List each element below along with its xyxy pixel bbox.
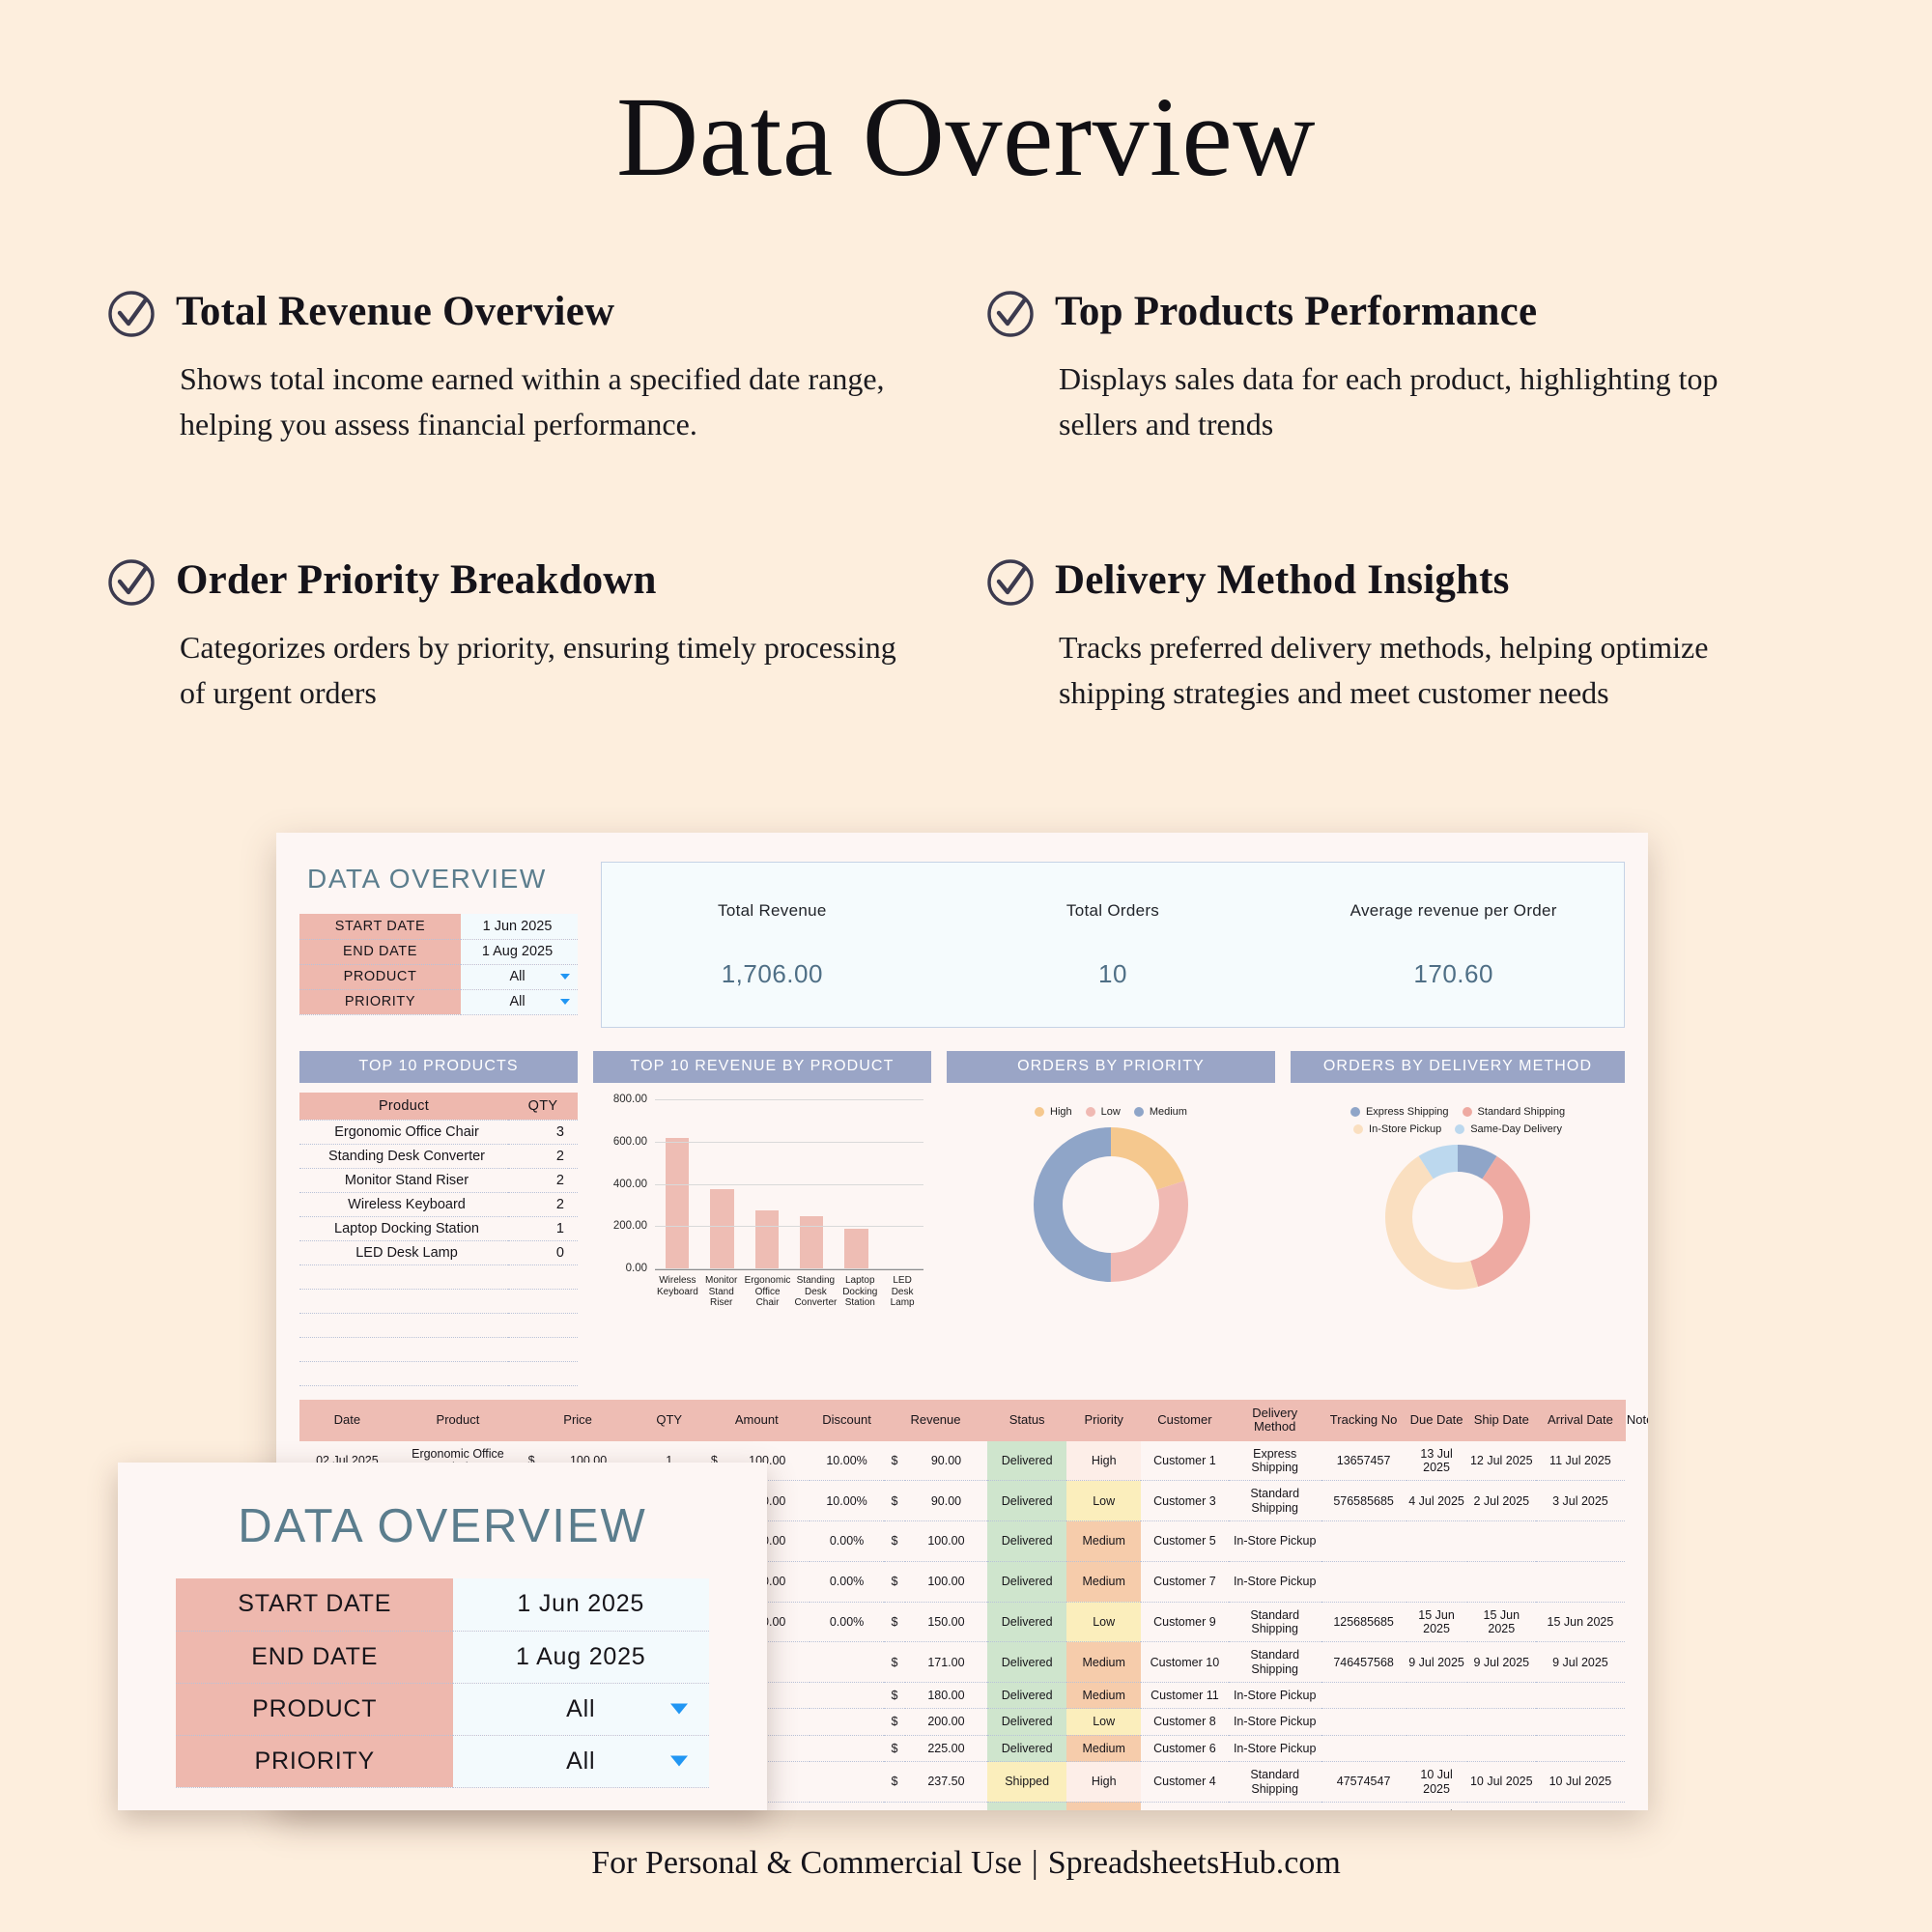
bar-column [789, 1100, 834, 1269]
cell-arrival-date [1536, 1683, 1625, 1709]
filter-row: START DATE1 Jun 2025 [299, 914, 578, 939]
panel-title-top-products: TOP 10 PRODUCTS [299, 1051, 578, 1083]
panel-title-revenue-by-product: TOP 10 REVENUE BY PRODUCT [593, 1051, 931, 1083]
cell-delivery-method: Same-Day Delivery [1229, 1802, 1321, 1810]
table-row-empty [299, 1361, 578, 1385]
x-axis-label: Laptop Docking Station [838, 1275, 881, 1309]
check-circle-icon [106, 289, 156, 339]
filter-label: PRIORITY [299, 989, 461, 1014]
bar-column [879, 1100, 923, 1269]
cell-ship-date [1467, 1735, 1536, 1761]
priority-badge: Medium [1066, 1735, 1141, 1761]
filter-row: PRIORITYAll [176, 1735, 708, 1787]
product-name: Ergonomic Office Chair [299, 1120, 508, 1144]
legend-label: In-Store Pickup [1369, 1123, 1441, 1135]
y-axis-tick: 200.00 [613, 1220, 647, 1232]
cell-revenue: 225.00 [905, 1735, 987, 1761]
product-name: LED Desk Lamp [299, 1240, 508, 1264]
filter-label: PRODUCT [299, 964, 461, 989]
cell-due-date: 12 Jul 2025 [1406, 1802, 1467, 1810]
check-circle-icon [985, 289, 1036, 339]
feature-description: Shows total income earned within a speci… [176, 356, 910, 448]
legend-color-dot [1035, 1107, 1044, 1117]
column-header: Discount [810, 1400, 884, 1441]
cell-revenue-currency: $ [884, 1561, 905, 1602]
cell-customer: Customer 4 [1141, 1762, 1229, 1803]
cell-customer: Customer 6 [1141, 1735, 1229, 1761]
cell-discount [810, 1683, 884, 1709]
cell-ship-date [1467, 1709, 1536, 1735]
status-badge: Delivered [987, 1642, 1066, 1683]
cell-due-date: 9 Jul 2025 [1406, 1642, 1467, 1683]
feature-title: Total Revenue Overview [176, 289, 947, 334]
cell-discount: 10.00% [810, 1481, 884, 1521]
bar-column [655, 1100, 699, 1269]
status-badge: Delivered [987, 1802, 1066, 1810]
footer-site-link[interactable]: SpreadsheetsHub.com [1048, 1845, 1341, 1881]
cell-arrival-date [1536, 1561, 1625, 1602]
filter-row: END DATE1 Aug 2025 [176, 1631, 708, 1683]
x-axis-label: LED Desk Lamp [881, 1275, 923, 1309]
filter-value[interactable]: 1 Jun 2025 [461, 914, 578, 939]
gridline: 400.00 [655, 1184, 923, 1185]
sheet-heading: DATA OVERVIEW [299, 858, 578, 914]
table-row: Standing Desk Converter2 [299, 1144, 578, 1168]
legend-label: Standard Shipping [1478, 1106, 1566, 1118]
revenue-bar-chart: 0.00200.00400.00600.00800.00 Wireless Ke… [593, 1093, 931, 1386]
filter-row: END DATE1 Aug 2025 [299, 939, 578, 964]
product-name: Wireless Keyboard [299, 1192, 508, 1216]
product-qty: 1 [508, 1216, 578, 1240]
cell-revenue: 90.00 [905, 1481, 987, 1521]
priority-badge: Low [1066, 1709, 1141, 1735]
y-axis-tick: 400.00 [613, 1179, 647, 1190]
cell-discount [810, 1709, 884, 1735]
legend-color-dot [1353, 1124, 1363, 1134]
filter-value[interactable]: 1 Jun 2025 [453, 1578, 709, 1631]
product-name: Laptop Docking Station [299, 1216, 508, 1240]
priority-badge: Medium [1066, 1521, 1141, 1562]
y-axis-tick: 600.00 [613, 1136, 647, 1148]
table-row-empty [299, 1264, 578, 1289]
legend-item: Express Shipping [1350, 1106, 1449, 1118]
filter-label: PRODUCT [176, 1683, 453, 1735]
table-row: Ergonomic Office Chair3 [299, 1120, 578, 1144]
cell-tracking-no [1321, 1521, 1406, 1562]
cell-revenue: 90.00 [905, 1441, 987, 1481]
feature-title: Order Priority Breakdown [176, 557, 947, 603]
cell-delivery-method: Standard Shipping [1229, 1762, 1321, 1803]
legend-label: Express Shipping [1366, 1106, 1449, 1118]
feature-title: Top Products Performance [1055, 289, 1826, 334]
cell-ship-date [1467, 1561, 1536, 1602]
x-axis-label: Monitor Stand Riser [700, 1275, 743, 1309]
top-products-table: ProductQTY Ergonomic Office Chair3Standi… [299, 1093, 578, 1386]
feature-item-revenue: Total Revenue Overview Shows total incom… [106, 287, 947, 447]
footer: For Personal & Commercial Use|Spreadshee… [0, 1845, 1932, 1882]
filter-panel: DATA OVERVIEW START DATE1 Jun 2025END DA… [299, 858, 578, 1015]
donut-chart [1034, 1127, 1188, 1282]
cell-tracking-no: 746457568 [1321, 1642, 1406, 1683]
column-header: Arrival Date [1536, 1400, 1625, 1441]
cell-ship-date: 12 Jul 2025 [1467, 1441, 1536, 1481]
legend-color-dot [1455, 1124, 1464, 1134]
cell-revenue: 100.00 [905, 1561, 987, 1602]
filter-dropdown[interactable]: All [461, 964, 578, 989]
donut-chart [1385, 1145, 1530, 1290]
cell-revenue-currency: $ [884, 1441, 905, 1481]
bar [844, 1229, 867, 1269]
column-header: Price [521, 1400, 635, 1441]
cell-discount: 0.00% [810, 1602, 884, 1642]
legend-color-dot [1463, 1107, 1472, 1117]
cell-arrival-date [1536, 1521, 1625, 1562]
product-qty: 0 [508, 1240, 578, 1264]
table-row: Monitor Stand Riser2 [299, 1168, 578, 1192]
cell-ship-date [1467, 1683, 1536, 1709]
cell-revenue-currency: $ [884, 1642, 905, 1683]
cell-due-date: 4 Jul 2025 [1406, 1481, 1467, 1521]
filter-value[interactable]: 1 Aug 2025 [461, 939, 578, 964]
gridline: 800.00 [655, 1099, 923, 1100]
gridline: 0.00 [655, 1268, 923, 1269]
column-header: QTY [635, 1400, 703, 1441]
zoom-inset-card: DATA OVERVIEW START DATE1 Jun 2025END DA… [118, 1463, 767, 1810]
orders-by-delivery-donut: Express ShippingStandard ShippingIn-Stor… [1291, 1093, 1625, 1321]
column-header: Due Date [1406, 1400, 1467, 1441]
cell-ship-date: 10 Jul 2025 [1467, 1762, 1536, 1803]
cell-discount: 0.00% [810, 1561, 884, 1602]
filter-label: START DATE [176, 1578, 453, 1631]
filter-row: PRIORITYAll [299, 989, 578, 1014]
priority-badge: High [1066, 1762, 1141, 1803]
legend-label: Same-Day Delivery [1470, 1123, 1562, 1135]
cell-revenue: 180.00 [905, 1683, 987, 1709]
bar-column [745, 1100, 789, 1269]
priority-badge: Medium [1066, 1642, 1141, 1683]
filter-label: END DATE [176, 1631, 453, 1683]
cell-ship-date: 11 Jul 2025 [1467, 1802, 1536, 1810]
cell-arrival-date: 11 Jul 2025 [1536, 1802, 1625, 1810]
feature-item-delivery-method: Delivery Method Insights Tracks preferre… [985, 555, 1826, 716]
feature-description: Displays sales data for each product, hi… [1055, 356, 1789, 448]
cell-ship-date: 15 Jun 2025 [1467, 1602, 1536, 1642]
status-badge: Delivered [987, 1709, 1066, 1735]
kpi-label: Total Revenue [602, 901, 943, 921]
feature-description: Tracks preferred delivery methods, helpi… [1055, 625, 1789, 717]
cell-due-date [1406, 1709, 1467, 1735]
kpi-total-revenue: Total Revenue 1,706.00 [602, 901, 943, 989]
priority-badge: Low [1066, 1602, 1141, 1642]
cell-tracking-no [1321, 1561, 1406, 1602]
table-row: Wireless Keyboard2 [299, 1192, 578, 1216]
cell-due-date: 15 Jun 2025 [1406, 1602, 1467, 1642]
footer-left-text: For Personal & Commercial Use [591, 1845, 1022, 1881]
cell-arrival-date [1536, 1735, 1625, 1761]
cell-tracking-no [1321, 1709, 1406, 1735]
cell-arrival-date: 9 Jul 2025 [1536, 1642, 1625, 1683]
bar-column [834, 1100, 878, 1269]
cell-arrival-date [1536, 1709, 1625, 1735]
legend-label: High [1050, 1106, 1072, 1118]
cell-arrival-date: 3 Jul 2025 [1536, 1481, 1625, 1521]
filter-table: START DATE1 Jun 2025END DATE1 Aug 2025PR… [299, 914, 578, 1015]
cell-discount [810, 1735, 884, 1761]
status-badge: Delivered [987, 1441, 1066, 1481]
product-qty: 3 [508, 1120, 578, 1144]
column-header: Customer [1141, 1400, 1229, 1441]
cell-revenue: 237.50 [905, 1762, 987, 1803]
cell-customer: Customer 3 [1141, 1481, 1229, 1521]
kpi-total-orders: Total Orders 10 [943, 901, 1284, 989]
legend-item: In-Store Pickup [1353, 1123, 1441, 1135]
cell-tracking-no: 13657457 [1321, 1441, 1406, 1481]
y-axis-tick: 0.00 [626, 1263, 647, 1274]
filter-label: PRIORITY [176, 1735, 453, 1787]
product-name: Monitor Stand Riser [299, 1168, 508, 1192]
column-header: Date [299, 1400, 395, 1441]
chevron-down-icon[interactable] [560, 974, 570, 980]
filter-dropdown[interactable]: All [453, 1683, 709, 1735]
column-header: Status [987, 1400, 1066, 1441]
cell-tracking-no: 5434634 [1321, 1802, 1406, 1810]
column-header: Ship Date [1467, 1400, 1536, 1441]
panel-title-orders-by-delivery-method: ORDERS BY DELIVERY METHOD [1291, 1051, 1625, 1083]
table-row-empty [299, 1313, 578, 1337]
bar [800, 1216, 823, 1269]
legend-color-dot [1350, 1107, 1360, 1117]
product-qty: 2 [508, 1144, 578, 1168]
kpi-average-revenue-per-order: Average revenue per Order 170.60 [1283, 901, 1624, 989]
cell-delivery-method: In-Store Pickup [1229, 1683, 1321, 1709]
cell-revenue-currency: $ [884, 1481, 905, 1521]
y-axis-tick: 800.00 [613, 1094, 647, 1105]
table-row-empty [299, 1337, 578, 1361]
product-qty: 2 [508, 1192, 578, 1216]
feature-title: Delivery Method Insights [1055, 557, 1826, 603]
column-header: QTY [508, 1093, 578, 1120]
legend-color-dot [1134, 1107, 1144, 1117]
cell-customer: Customer 2 [1141, 1802, 1229, 1810]
cell-delivery-method: In-Store Pickup [1229, 1521, 1321, 1562]
panel-headers-row: TOP 10 PRODUCTS TOP 10 REVENUE BY PRODUC… [299, 1051, 1625, 1083]
status-badge: Delivered [987, 1683, 1066, 1709]
filter-dropdown[interactable]: All [461, 989, 578, 1014]
status-badge: Delivered [987, 1521, 1066, 1562]
cell-revenue-currency: $ [884, 1709, 905, 1735]
filter-row: START DATE1 Jun 2025 [176, 1578, 708, 1631]
priority-badge: Medium [1066, 1683, 1141, 1709]
filter-value[interactable]: 1 Aug 2025 [453, 1631, 709, 1683]
cell-revenue-currency: $ [884, 1602, 905, 1642]
bar [710, 1189, 733, 1269]
cell-discount [810, 1802, 884, 1810]
cell-ship-date: 2 Jul 2025 [1467, 1481, 1536, 1521]
cell-due-date: 10 Jul 2025 [1406, 1762, 1467, 1803]
cell-discount [810, 1762, 884, 1803]
column-header: Amount [703, 1400, 810, 1441]
legend-label: Medium [1150, 1106, 1187, 1118]
legend-label: Low [1101, 1106, 1121, 1118]
table-row-empty [299, 1289, 578, 1313]
cell-ship-date: 9 Jul 2025 [1467, 1642, 1536, 1683]
cell-revenue: 400.00 [905, 1802, 987, 1810]
x-axis-label: Ergonomic Office Chair [743, 1275, 793, 1309]
table-row: Laptop Docking Station1 [299, 1216, 578, 1240]
cell-customer: Customer 7 [1141, 1561, 1229, 1602]
cell-delivery-method: Express Shipping [1229, 1441, 1321, 1481]
check-circle-icon [985, 557, 1036, 608]
kpi-value: 1,706.00 [602, 959, 943, 989]
chevron-down-icon[interactable] [670, 1704, 688, 1715]
cell-arrival-date: 15 Jun 2025 [1536, 1602, 1625, 1642]
legend-color-dot [1086, 1107, 1095, 1117]
cell-revenue-currency: $ [884, 1735, 905, 1761]
kpi-panel: Total Revenue 1,706.00 Total Orders 10 A… [601, 862, 1625, 1028]
cell-arrival-date: 11 Jul 2025 [1536, 1441, 1625, 1481]
cell-tracking-no [1321, 1735, 1406, 1761]
cell-delivery-method: In-Store Pickup [1229, 1561, 1321, 1602]
cell-tracking-no: 47574547 [1321, 1762, 1406, 1803]
priority-badge: High [1066, 1441, 1141, 1481]
chevron-down-icon[interactable] [560, 999, 570, 1005]
cell-due-date [1406, 1521, 1467, 1562]
column-header: Priority [1066, 1400, 1141, 1441]
bar [755, 1210, 779, 1269]
priority-badge: Medium [1066, 1802, 1141, 1810]
orders-by-priority-donut: HighLowMedium [947, 1093, 1275, 1321]
cell-revenue: 200.00 [905, 1709, 987, 1735]
feature-grid: Total Revenue Overview Shows total incom… [0, 198, 1932, 716]
feature-item-order-priority: Order Priority Breakdown Categorizes ord… [106, 555, 947, 716]
priority-badge: Low [1066, 1481, 1141, 1521]
cell-due-date [1406, 1683, 1467, 1709]
page-title: Data Overview [0, 0, 1932, 198]
kpi-value: 10 [943, 959, 1284, 989]
product-name: Standing Desk Converter [299, 1144, 508, 1168]
cell-customer: Customer 9 [1141, 1602, 1229, 1642]
cell-due-date [1406, 1561, 1467, 1602]
cell-discount [810, 1642, 884, 1683]
filter-row: PRODUCTAll [299, 964, 578, 989]
inset-title: DATA OVERVIEW [118, 1463, 767, 1578]
cell-revenue-currency: $ [884, 1683, 905, 1709]
legend-item: Standard Shipping [1463, 1106, 1566, 1118]
cell-customer: Customer 11 [1141, 1683, 1229, 1709]
check-circle-icon [106, 557, 156, 608]
table-row: LED Desk Lamp0 [299, 1240, 578, 1264]
panel-title-orders-by-priority: ORDERS BY PRIORITY [947, 1051, 1275, 1083]
cell-discount: 0.00% [810, 1521, 884, 1562]
cell-delivery-method: Standard Shipping [1229, 1481, 1321, 1521]
status-badge: Delivered [987, 1735, 1066, 1761]
product-qty: 2 [508, 1168, 578, 1192]
filter-label: END DATE [299, 939, 461, 964]
footer-separator: | [1022, 1845, 1048, 1881]
cell-revenue-currency: $ [884, 1521, 905, 1562]
cell-delivery-method: Standard Shipping [1229, 1602, 1321, 1642]
column-header: Delivery Method [1229, 1400, 1321, 1441]
cell-revenue-currency: $ [884, 1762, 905, 1803]
status-badge: Shipped [987, 1762, 1066, 1803]
filter-row: PRODUCTAll [176, 1683, 708, 1735]
cell-customer: Customer 8 [1141, 1709, 1229, 1735]
x-axis-label: Standing Desk Converter [792, 1275, 838, 1309]
chevron-down-icon[interactable] [670, 1756, 688, 1767]
filter-label: START DATE [299, 914, 461, 939]
cell-customer: Customer 1 [1141, 1441, 1229, 1481]
gridline: 200.00 [655, 1226, 923, 1227]
cell-arrival-date: 10 Jul 2025 [1536, 1762, 1625, 1803]
kpi-label: Average revenue per Order [1283, 901, 1624, 921]
status-badge: Delivered [987, 1481, 1066, 1521]
status-badge: Delivered [987, 1602, 1066, 1642]
bar [666, 1138, 689, 1269]
cell-tracking-no [1321, 1683, 1406, 1709]
cell-due-date [1406, 1735, 1467, 1761]
column-header: Tracking No [1321, 1400, 1406, 1441]
kpi-label: Total Orders [943, 901, 1284, 921]
legend-item: Same-Day Delivery [1455, 1123, 1562, 1135]
cell-ship-date [1467, 1521, 1536, 1562]
cell-delivery-method: In-Store Pickup [1229, 1735, 1321, 1761]
cell-due-date: 13 Jul 2025 [1406, 1441, 1467, 1481]
priority-badge: Medium [1066, 1561, 1141, 1602]
bar-column [699, 1100, 744, 1269]
cell-revenue: 171.00 [905, 1642, 987, 1683]
x-axis-label: Wireless Keyboard [655, 1275, 700, 1309]
feature-description: Categorizes orders by priority, ensuring… [176, 625, 910, 717]
cell-tracking-no: 576585685 [1321, 1481, 1406, 1521]
column-header: Product [299, 1093, 508, 1120]
cell-delivery-method: Standard Shipping [1229, 1642, 1321, 1683]
cell-revenue-currency: $ [884, 1802, 905, 1810]
inset-filter-table: START DATE1 Jun 2025END DATE1 Aug 2025PR… [176, 1578, 708, 1788]
legend-item: Low [1086, 1106, 1121, 1118]
cell-customer: Customer 5 [1141, 1521, 1229, 1562]
filter-dropdown[interactable]: All [453, 1735, 709, 1787]
cell-tracking-no: 125685685 [1321, 1602, 1406, 1642]
cell-delivery-method: In-Store Pickup [1229, 1709, 1321, 1735]
cell-revenue: 150.00 [905, 1602, 987, 1642]
feature-item-top-products: Top Products Performance Displays sales … [985, 287, 1826, 447]
kpi-value: 170.60 [1283, 959, 1624, 989]
legend-item: High [1035, 1106, 1072, 1118]
gridline: 600.00 [655, 1142, 923, 1143]
cell-discount: 10.00% [810, 1441, 884, 1481]
cell-customer: Customer 10 [1141, 1642, 1229, 1683]
status-badge: Delivered [987, 1561, 1066, 1602]
cell-revenue: 100.00 [905, 1521, 987, 1562]
column-header: Revenue [884, 1400, 987, 1441]
legend-item: Medium [1134, 1106, 1187, 1118]
column-header: Product [395, 1400, 521, 1441]
